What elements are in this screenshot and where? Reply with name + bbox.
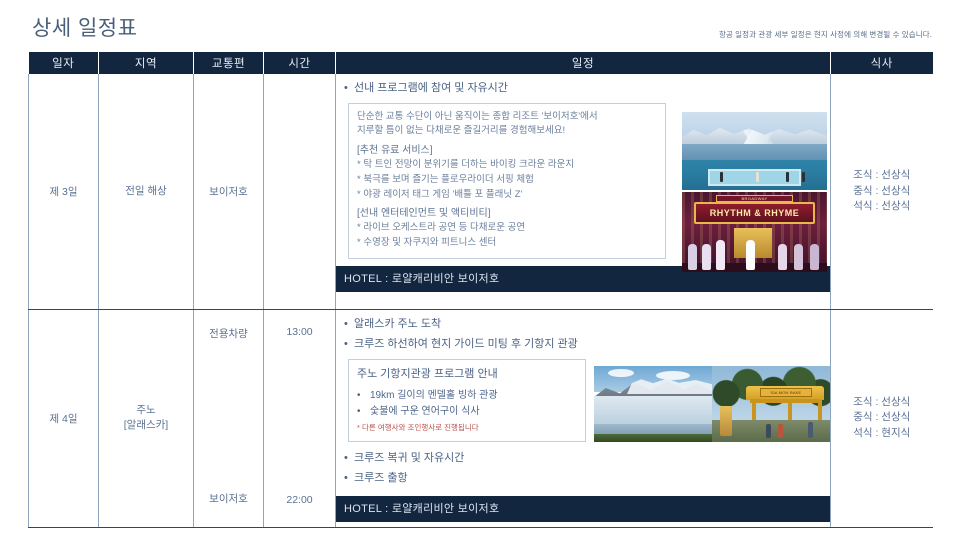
infobox-section-item: * 북극를 보며 즐기는 플로우라이더 서핑 체험 (357, 173, 657, 188)
schedule-bullet-text: 크루즈 복귀 및 자유시간 (354, 452, 464, 466)
meal-lunch: 중식 : 선상식 (831, 184, 933, 199)
infobox-section-item: * 야광 레이저 태그 게임 '배틀 포 플래닛 Z' (357, 188, 657, 203)
infobox-section-item: * 탁 트인 전망이 분위기를 더하는 바이킹 크라운 라운지 (357, 158, 657, 173)
schedule-bullet: • 선내 프로그램에 참여 및 자유시간 (336, 82, 830, 96)
schedule-bullet-text: 선내 프로그램에 참여 및 자유시간 (354, 82, 508, 96)
onboard-program-infobox: 단순한 교통 수단이 아닌 움직이는 종합 리조트 '보이저호'에서 지루할 틈… (348, 103, 666, 259)
column-header-area: 지역 (99, 52, 194, 74)
mendenhall-glacier-photo (594, 366, 712, 442)
cell-area: 주노 [알래스카] (99, 309, 194, 527)
bullet-dot-icon: • (344, 338, 354, 351)
itinerary-page: 상세 일정표 항공 일정과 관광 세부 일정은 현지 사정에 의해 변경될 수 … (0, 0, 960, 540)
bullet-dot-icon: • (344, 82, 354, 95)
cruise-deck-pool-photo (682, 112, 827, 190)
cell-transport: 보이저호 (194, 74, 264, 309)
infobox-section-heading: [추천 유료 서비스] (357, 143, 657, 158)
salmon-bake-sign-text: SALMON BAKE (760, 388, 812, 397)
schedule-bullet: • 크루즈 복귀 및 자유시간 (336, 452, 830, 466)
title-row: 상세 일정표 항공 일정과 관광 세부 일정은 현지 사정에 의해 변경될 수 … (0, 12, 960, 46)
infobox-section-heading: [선내 엔터테인먼트 및 액티비티] (357, 206, 657, 221)
infobox-warning-text: * 다른 여행사와 조인행사로 진행됩니다 (357, 422, 577, 434)
area-label: 주노 (136, 404, 155, 416)
page-title: 상세 일정표 (32, 12, 137, 42)
meal-dinner: 석식 : 현지식 (831, 426, 933, 441)
infobox-title: 주노 기항지관광 프로그램 안내 (357, 366, 577, 383)
bullet-dot-icon: • (357, 404, 370, 420)
area-sublabel: [알래스카] (99, 418, 193, 433)
time-label-bottom: 22:00 (264, 494, 335, 506)
infobox-section-item: * 수영장 및 자쿠지와 피트니스 센터 (357, 236, 657, 251)
time-label-top: 13:00 (264, 326, 335, 338)
infobox-item-text: 19km 길이의 멘델홀 빙하 관광 (370, 388, 498, 404)
infobox-intro-line: 지루할 틈이 없는 다채로운 즐길거리를 경험해보세요! (357, 124, 657, 139)
meal-breakfast: 조식 : 선상식 (831, 395, 933, 410)
broadway-sign-text: BROADWAY (716, 195, 793, 202)
meal-dinner: 석식 : 선상식 (831, 199, 933, 214)
transport-label: 보이저호 (209, 186, 248, 198)
infobox-item: • 숯불에 구운 연어구이 식사 (357, 404, 577, 420)
column-header-time: 시간 (264, 52, 336, 74)
schedule-bullet-text: 크루즈 출항 (354, 472, 408, 486)
cell-schedule: • 선내 프로그램에 참여 및 자유시간 단순한 교통 수단이 아닌 움직이는 … (336, 74, 831, 309)
transport-label-bottom: 보이저호 (194, 491, 263, 506)
infobox-item-text: 숯불에 구운 연어구이 식사 (370, 404, 480, 420)
bullet-dot-icon: • (357, 388, 370, 404)
itinerary-table: 일자 지역 교통편 시간 일정 식사 제 3일 전일 해상 (28, 52, 933, 528)
cell-meals: 조식 : 선상식 중식 : 선상식 석식 : 현지식 (831, 309, 933, 527)
cell-time: 13:00 22:00 (264, 309, 336, 527)
cell-area: 전일 해상 (99, 74, 194, 309)
meal-lunch: 중식 : 선상식 (831, 410, 933, 425)
meal-breakfast: 조식 : 선상식 (831, 168, 933, 183)
cell-transport: 전용차량 보이저호 (194, 309, 264, 527)
salmon-bake-pavilion-photo: SALMON BAKE (712, 366, 830, 442)
show-title-text: RHYTHM & RHYME (710, 208, 800, 218)
bullet-dot-icon: • (344, 318, 354, 331)
schedule-bullet-text: 크루즈 하선하여 현지 가이드 미팅 후 기항지 관광 (354, 338, 578, 352)
infobox-intro-line: 단순한 교통 수단이 아닌 움직이는 종합 리조트 '보이저호'에서 (357, 110, 657, 125)
cell-meals: 조식 : 선상식 중식 : 선상식 석식 : 선상식 (831, 74, 933, 309)
table-header-row: 일자 지역 교통편 시간 일정 식사 (29, 52, 933, 74)
cell-day: 제 4일 (29, 309, 99, 527)
schedule-bullet: • 크루즈 하선하여 현지 가이드 미팅 후 기항지 관광 (336, 338, 830, 352)
bullet-dot-icon: • (344, 472, 354, 485)
table-row: 제 4일 주노 [알래스카] 전용차량 보이저호 13:00 (29, 309, 933, 527)
schedule-bullet-text: 알래스카 주노 도착 (354, 318, 441, 332)
day-label: 제 3일 (49, 186, 77, 198)
schedule-bullet: • 크루즈 출항 (336, 472, 830, 486)
show-marquee-sign: RHYTHM & RHYME (694, 202, 815, 224)
schedule-bullet: • 알래스카 주노 도착 (336, 318, 830, 332)
day-label: 제 4일 (49, 413, 77, 425)
juneau-shore-excursion-infobox: 주노 기항지관광 프로그램 안내 • 19km 길이의 멘델홀 빙하 관광 • … (348, 359, 586, 442)
bullet-dot-icon: • (344, 452, 354, 465)
column-header-meals: 식사 (831, 52, 933, 74)
hotel-bar: HOTEL : 로얄캐리비안 보이저호 (336, 496, 830, 522)
cell-time (264, 74, 336, 309)
cell-day: 제 3일 (29, 74, 99, 309)
table-row: 제 3일 전일 해상 보이저호 • 선내 (29, 74, 933, 309)
cell-schedule: • 알래스카 주노 도착 • 크루즈 하선하여 현지 가이드 미팅 후 기항지 … (336, 309, 831, 527)
column-header-transport: 교통편 (194, 52, 264, 74)
rhythm-and-rhyme-show-photo: BROADWAY RHYTHM & RHYME (682, 192, 827, 272)
infobox-section-item: * 라이브 오케스트라 공연 등 다채로운 공연 (357, 221, 657, 236)
area-label: 전일 해상 (125, 185, 167, 197)
column-header-day: 일자 (29, 52, 99, 74)
column-header-schedule: 일정 (336, 52, 831, 74)
disclaimer-note: 항공 일정과 관광 세부 일정은 현지 사정에 의해 변경될 수 있습니다. (719, 29, 932, 40)
infobox-item: • 19km 길이의 멘델홀 빙하 관광 (357, 388, 577, 404)
transport-label-top: 전용차량 (194, 326, 263, 341)
